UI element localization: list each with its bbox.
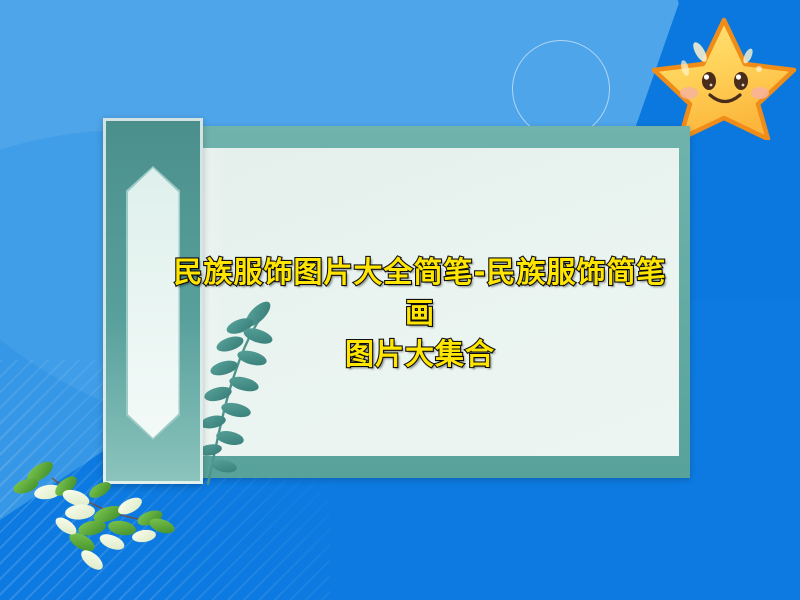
green-leaves-decoration: [4, 456, 194, 586]
slide-canvas: 民族服饰图片大全简笔-民族服饰简笔画 图片大集合: [0, 0, 800, 600]
smiling-star-icon: [648, 12, 800, 140]
page-title: 民族服饰图片大全简笔-民族服饰简笔画 图片大集合: [160, 252, 680, 376]
circle-outline-decoration: [512, 40, 610, 138]
